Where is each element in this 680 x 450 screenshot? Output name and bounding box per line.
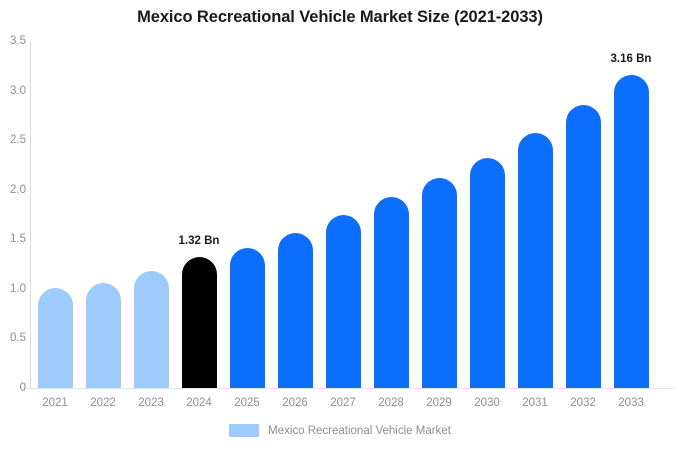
x-axis-tick-label-2031: 2031 <box>511 397 559 409</box>
bar-2027[interactable] <box>326 215 361 389</box>
x-axis-tick-label-2033: 2033 <box>607 397 655 409</box>
bar-2021[interactable] <box>38 288 73 388</box>
legend-color-swatch <box>229 424 259 437</box>
bar-2022[interactable] <box>86 283 121 388</box>
bar-2026[interactable] <box>278 233 313 388</box>
chart-container: Mexico Recreational Vehicle Market Size … <box>0 0 680 450</box>
bars-layer: 2021202220231.32 Bn202420252026202720282… <box>0 0 680 450</box>
x-axis-tick-label-2030: 2030 <box>463 397 511 409</box>
bar-2023[interactable] <box>134 271 169 388</box>
bar-2033[interactable] <box>614 75 649 388</box>
x-axis-tick-label-2027: 2027 <box>319 397 367 409</box>
bar-2025[interactable] <box>230 248 265 388</box>
chart-legend: Mexico Recreational Vehicle Market <box>0 424 680 437</box>
bar-value-label-2024: 1.32 Bn <box>154 235 244 247</box>
x-axis-tick-label-2026: 2026 <box>271 397 319 409</box>
x-axis-tick-label-2028: 2028 <box>367 397 415 409</box>
bar-value-label-2033: 3.16 Bn <box>586 53 676 65</box>
x-axis-tick-label-2021: 2021 <box>31 397 79 409</box>
legend-item-label: Mexico Recreational Vehicle Market <box>268 425 451 437</box>
bar-2030[interactable] <box>470 158 505 388</box>
bar-2029[interactable] <box>422 178 457 388</box>
x-axis-tick-label-2025: 2025 <box>223 397 271 409</box>
bar-2032[interactable] <box>566 105 601 388</box>
bar-2024[interactable] <box>182 257 217 388</box>
legend-item-mexico-recreational-vehicle-market[interactable]: Mexico Recreational Vehicle Market <box>229 424 451 437</box>
bar-2031[interactable] <box>518 133 553 388</box>
x-axis-tick-label-2024: 2024 <box>175 397 223 409</box>
x-axis-tick-label-2023: 2023 <box>127 397 175 409</box>
x-axis-tick-label-2029: 2029 <box>415 397 463 409</box>
x-axis-tick-label-2022: 2022 <box>79 397 127 409</box>
bar-2028[interactable] <box>374 197 409 388</box>
x-axis-tick-label-2032: 2032 <box>559 397 607 409</box>
